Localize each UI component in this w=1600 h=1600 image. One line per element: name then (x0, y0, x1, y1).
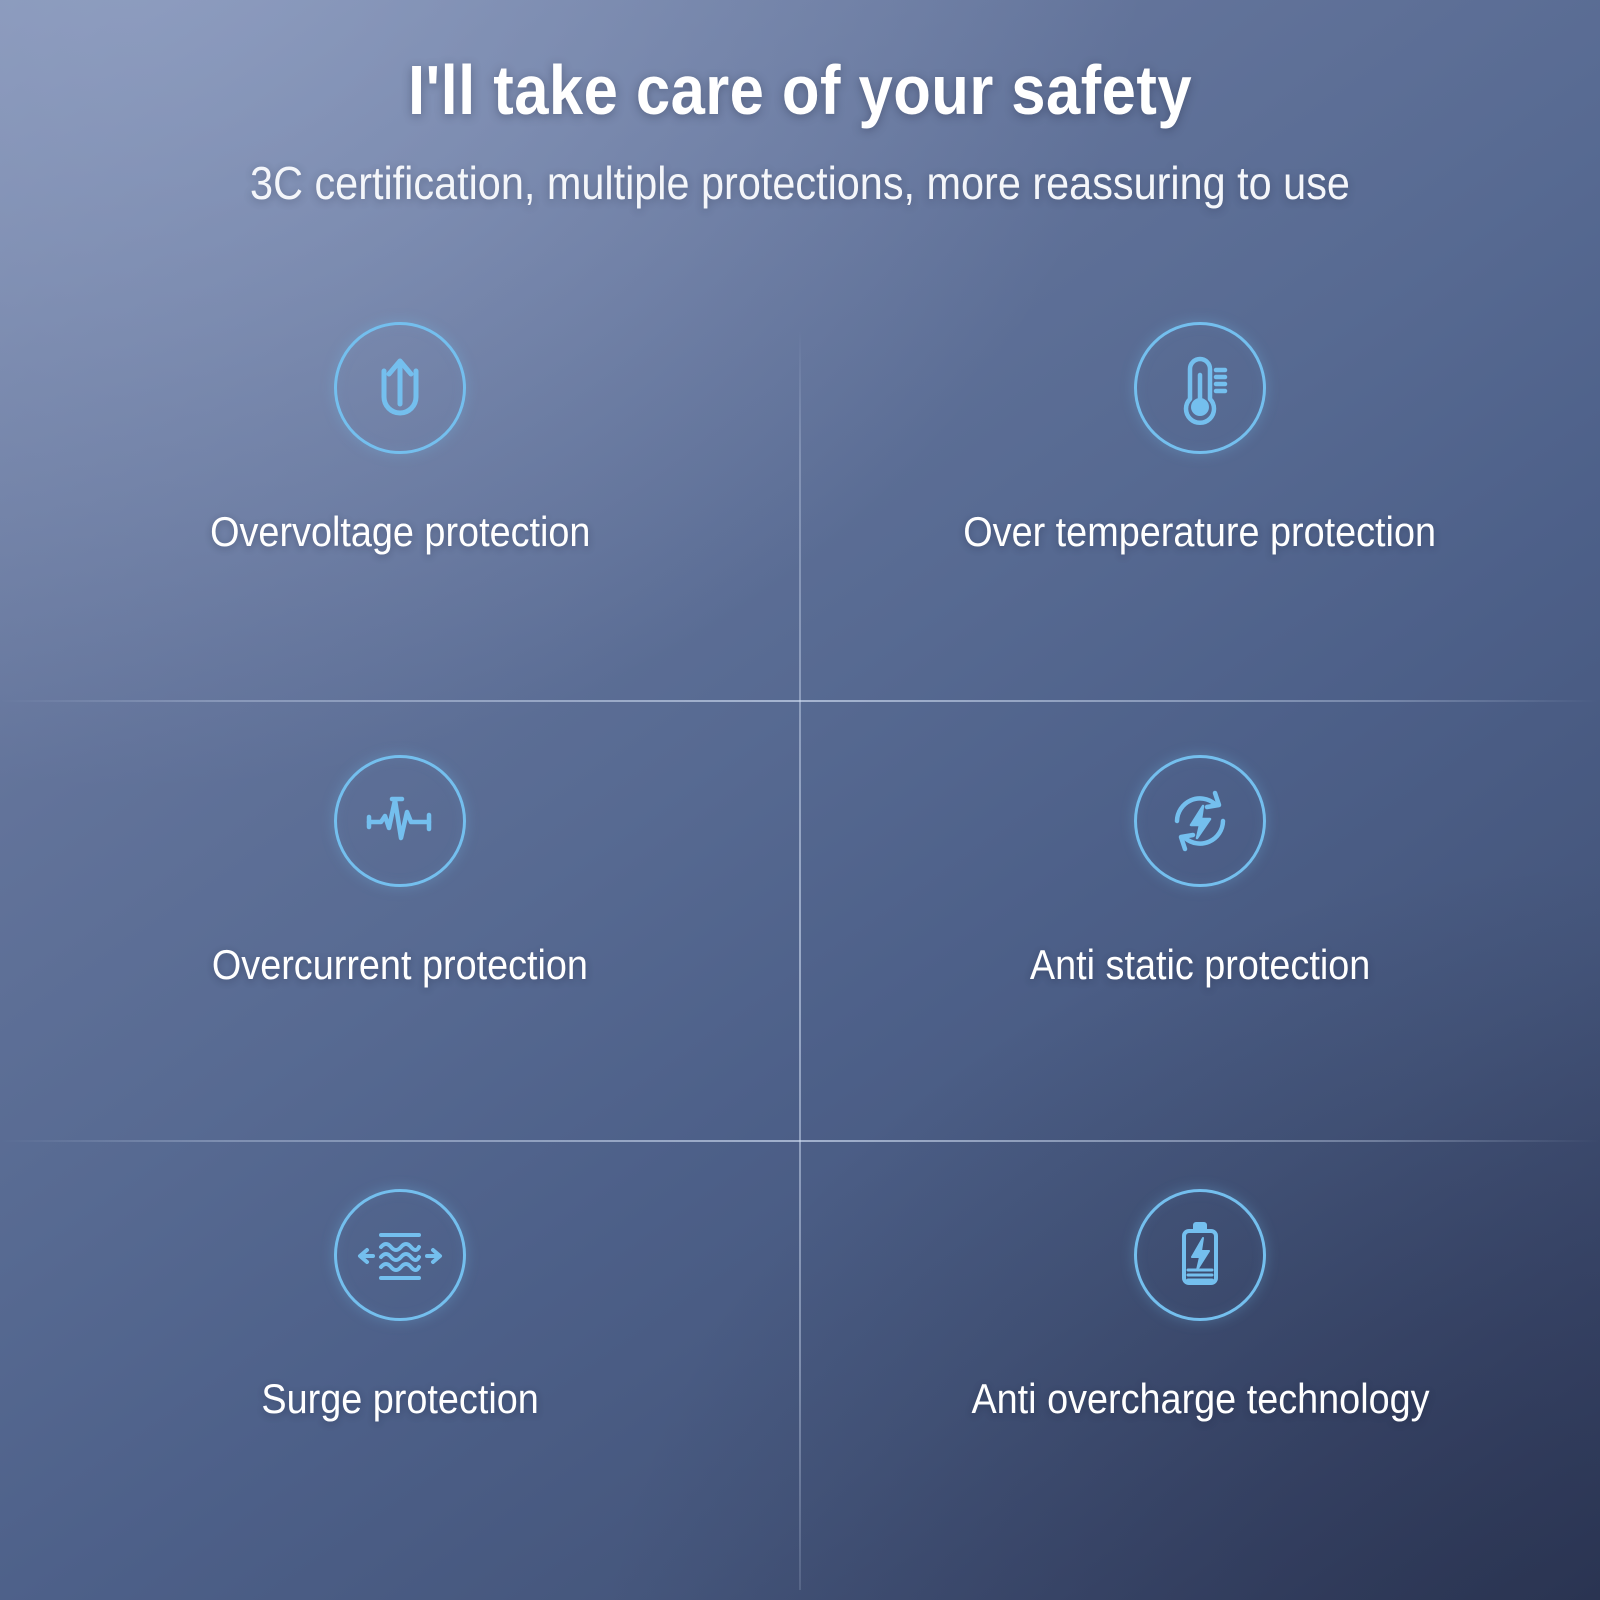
battery-bolt-icon (1134, 1189, 1266, 1321)
safety-features-page: I'll take care of your safety 3C certifi… (0, 0, 1600, 1600)
refresh-bolt-icon (1134, 755, 1266, 887)
arrow-up-in-u-icon (334, 322, 466, 454)
page-header: I'll take care of your safety 3C certifi… (0, 0, 1600, 210)
features-grid: Overvoltage protection Over temperature … (0, 300, 1600, 1600)
thermometer-icon (1134, 322, 1266, 454)
feature-cell-anti-static: Anti static protection (800, 733, 1600, 1166)
pulse-waveform-icon (334, 755, 466, 887)
page-title: I'll take care of your safety (96, 50, 1504, 130)
feature-cell-overcurrent: Overcurrent protection (0, 733, 800, 1166)
feature-label: Anti static protection (1030, 941, 1370, 989)
feature-label: Over temperature protection (964, 508, 1437, 556)
feature-label: Overcurrent protection (212, 941, 588, 989)
page-subtitle: 3C certification, multiple protections, … (80, 156, 1520, 210)
feature-cell-over-temperature: Over temperature protection (800, 300, 1600, 733)
waves-arrows-icon (334, 1189, 466, 1321)
feature-label: Overvoltage protection (210, 508, 590, 556)
feature-cell-overvoltage: Overvoltage protection (0, 300, 800, 733)
feature-label: Surge protection (261, 1375, 538, 1423)
feature-cell-surge: Surge protection (0, 1167, 800, 1600)
feature-cell-anti-overcharge: Anti overcharge technology (800, 1167, 1600, 1600)
feature-label: Anti overcharge technology (971, 1375, 1429, 1423)
